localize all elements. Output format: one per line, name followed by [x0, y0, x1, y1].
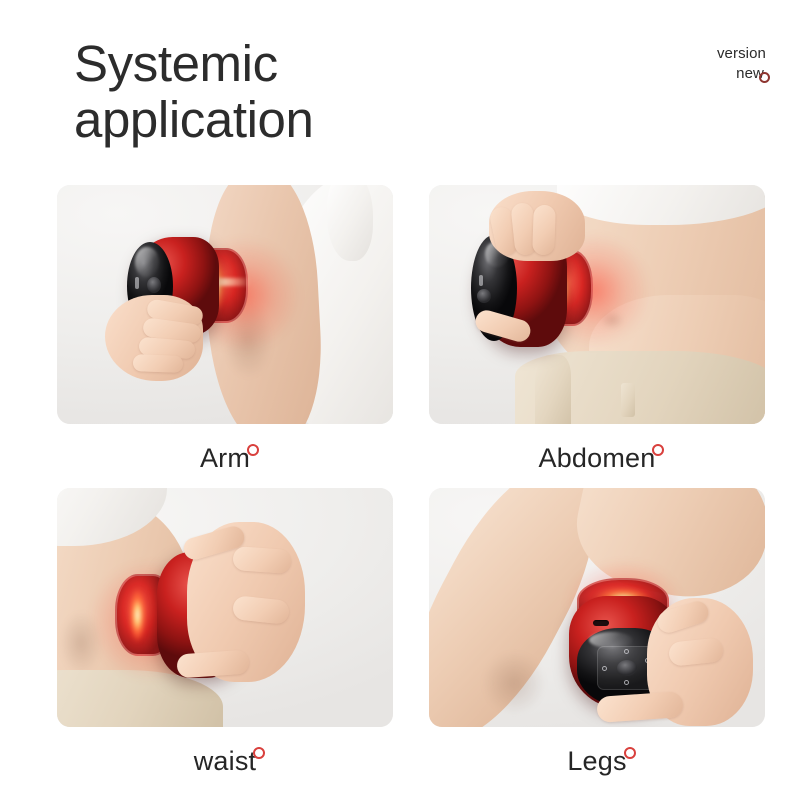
finger — [232, 546, 292, 574]
mode-left-icon[interactable] — [602, 666, 607, 671]
caption-text: Abdomen — [539, 443, 656, 473]
circle-outline-icon — [253, 747, 265, 759]
thumb — [176, 650, 249, 679]
circle-outline-icon — [624, 747, 636, 759]
caption-legs: Legs — [429, 745, 765, 777]
application-areas-grid: Arm — [57, 185, 765, 790]
caption-waist: waist — [57, 745, 393, 777]
panel-arm[interactable]: Arm — [57, 185, 393, 474]
device-indicator-slot — [479, 275, 483, 286]
caption-arm: Arm — [57, 442, 393, 474]
version-value-row: new — [717, 64, 766, 84]
panel-abdomen[interactable]: Abdomen — [429, 185, 765, 474]
scene-arm — [57, 185, 393, 424]
version-label: version — [717, 44, 766, 64]
photo-abdomen — [429, 185, 765, 424]
finger — [133, 354, 184, 373]
clothing-trouser-fold — [535, 355, 571, 424]
mode-up-icon[interactable] — [624, 649, 629, 654]
clothing-tank-strap — [327, 185, 373, 261]
photo-arm — [57, 185, 393, 424]
leg-shadow — [469, 638, 559, 727]
mode-down-icon[interactable] — [624, 680, 629, 685]
panel-legs[interactable]: Legs — [429, 488, 765, 777]
photo-legs — [429, 488, 765, 727]
panel-waist[interactable]: waist — [57, 488, 393, 777]
circle-outline-icon — [247, 444, 259, 456]
scene-legs — [429, 488, 765, 727]
scene-waist — [57, 488, 393, 727]
page-title: Systemic application — [74, 36, 534, 148]
caption-abdomen: Abdomen — [429, 442, 765, 474]
finger — [532, 205, 556, 256]
power-button-icon[interactable] — [477, 289, 491, 303]
circle-outline-icon — [652, 444, 664, 456]
glow-core — [129, 588, 146, 642]
power-button-icon[interactable] — [617, 660, 637, 676]
device-gloss-highlight — [135, 247, 159, 277]
caption-text: waist — [194, 746, 257, 776]
photo-waist — [57, 488, 393, 727]
version-badge: version new — [717, 44, 766, 84]
page-header: Systemic application version new — [0, 0, 800, 170]
power-button-icon[interactable] — [147, 277, 161, 293]
usb-c-port-icon — [593, 620, 609, 626]
caption-text: Arm — [200, 443, 250, 473]
caption-text: Legs — [567, 746, 626, 776]
scene-abdomen — [429, 185, 765, 424]
device-indicator-slot — [135, 277, 139, 289]
clothing-belt-loop — [621, 383, 635, 417]
circle-outline-icon — [759, 72, 770, 83]
product-feature-page: Systemic application version new — [0, 0, 800, 800]
